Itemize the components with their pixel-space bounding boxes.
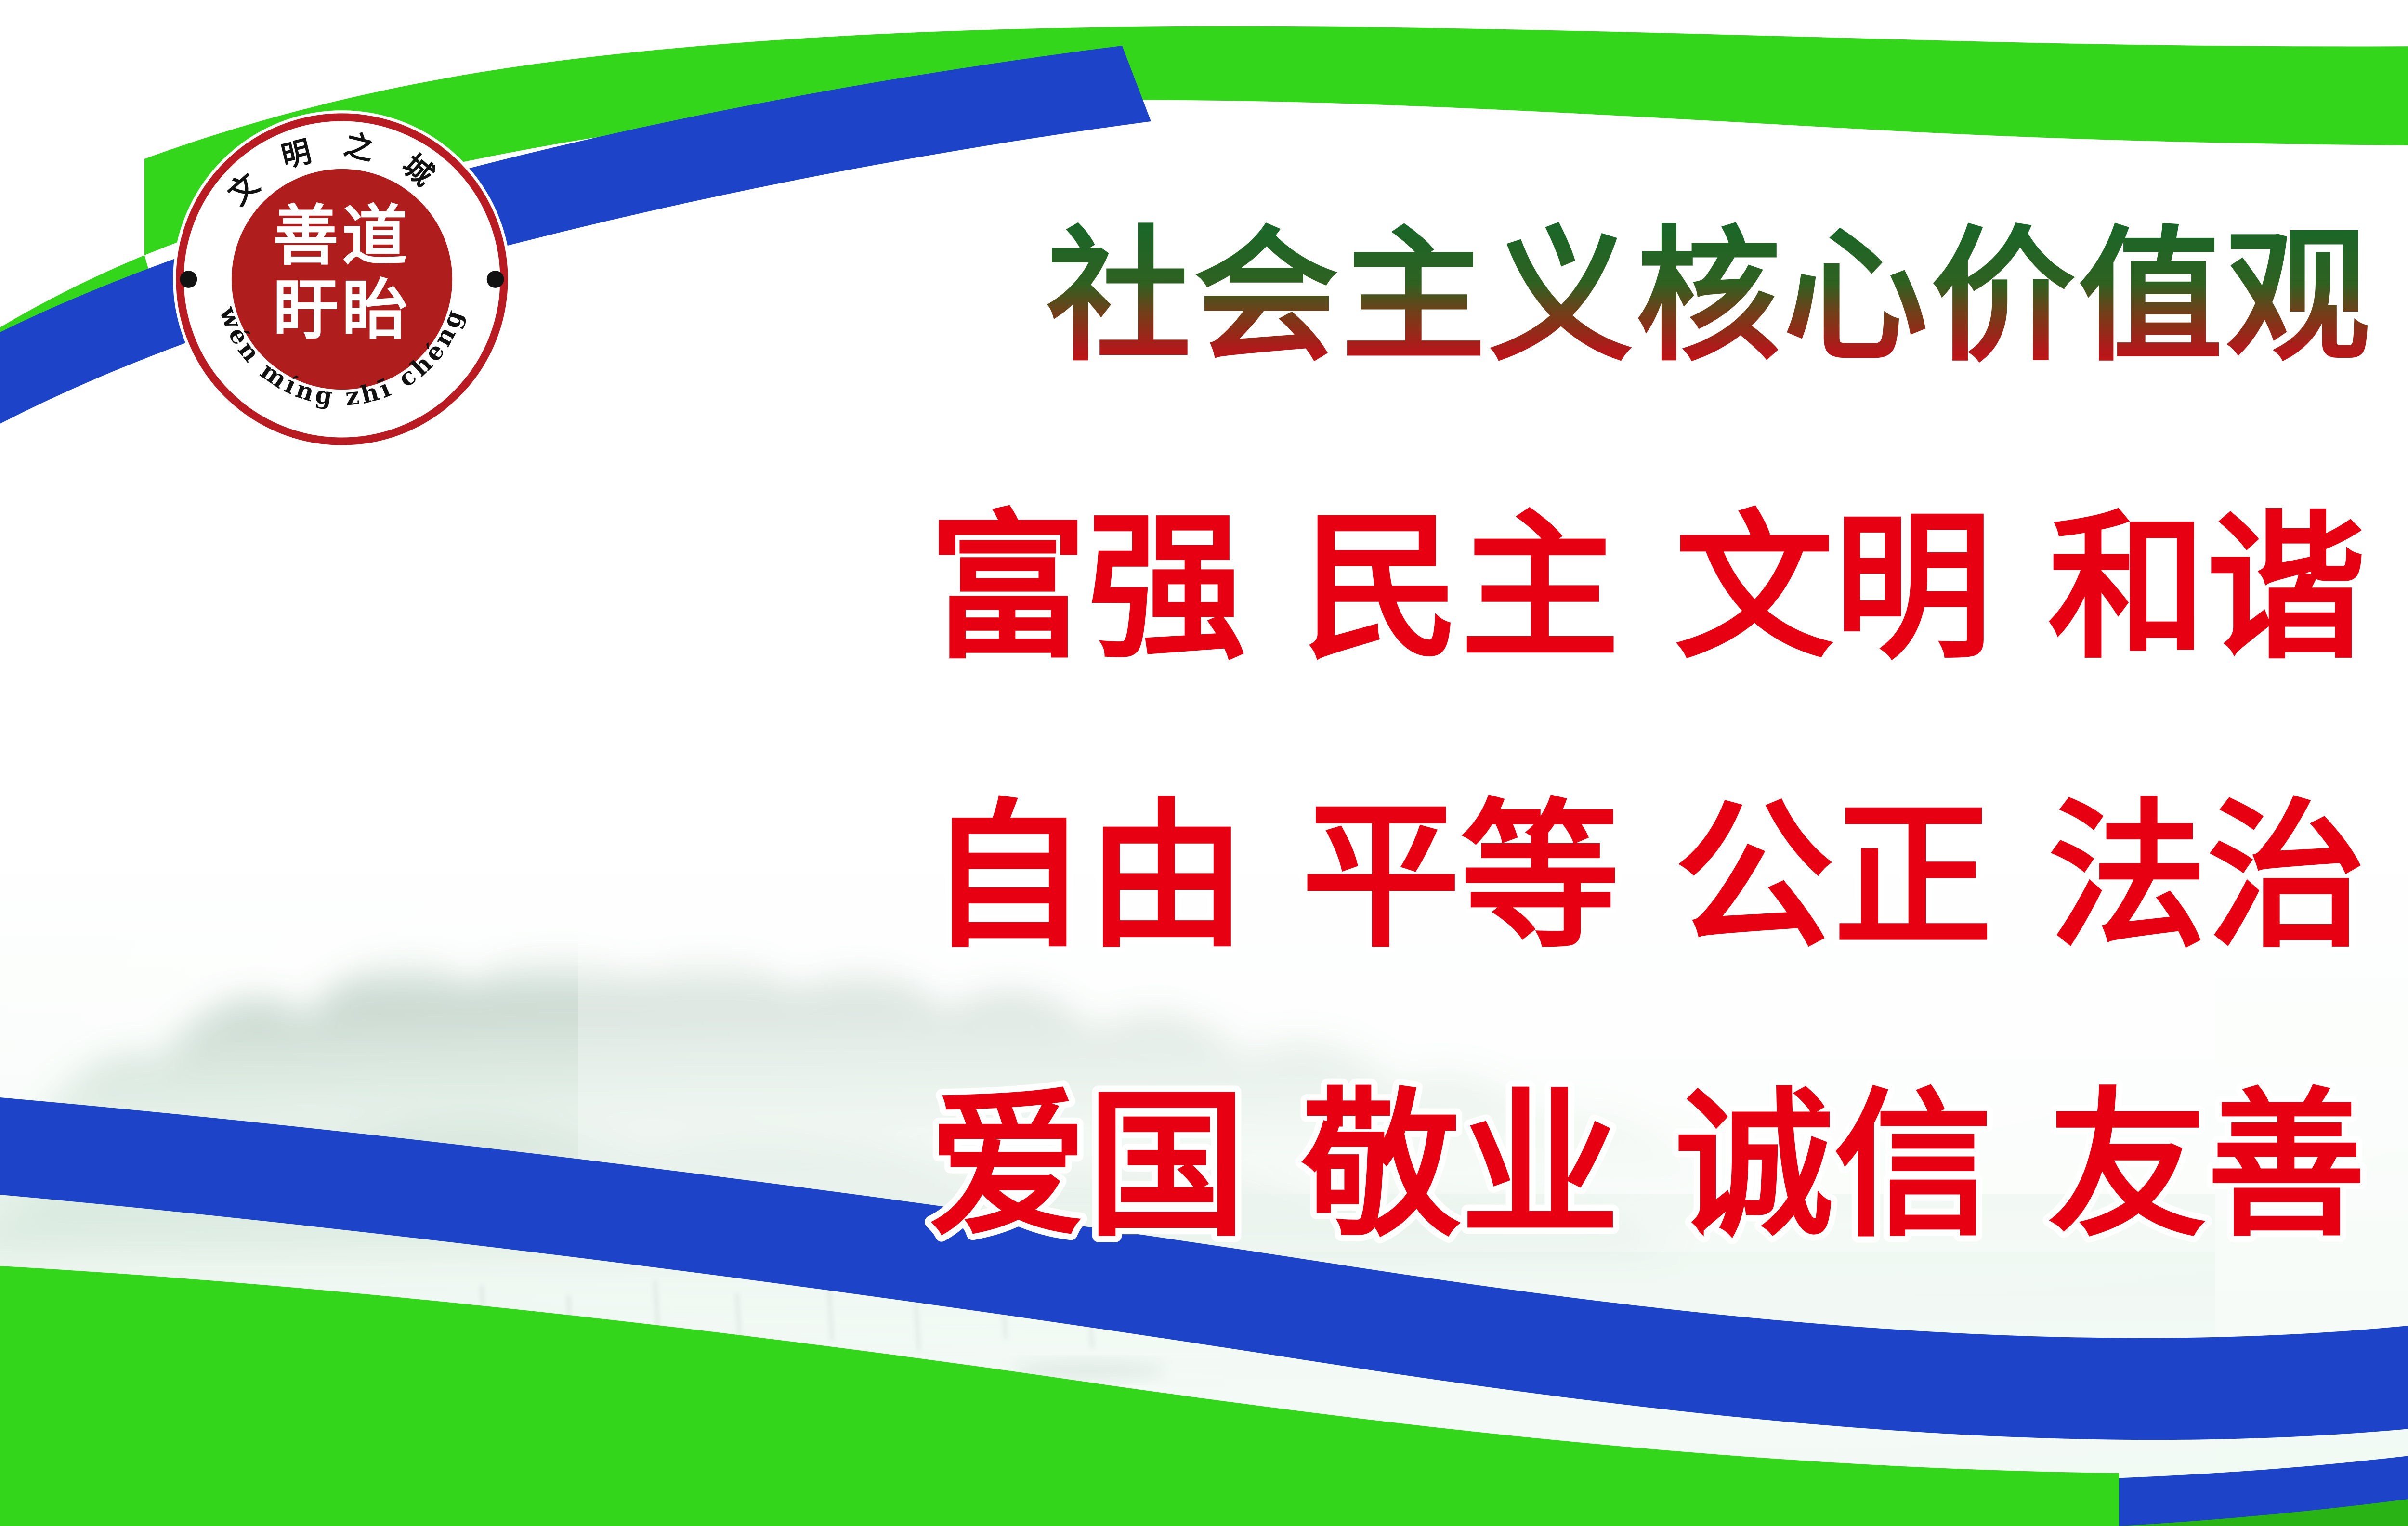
bottom-ribbons-svg <box>0 996 2408 1526</box>
ribbon-green-bottom-left <box>0 1266 2119 1526</box>
value-line-2: 自由 平等 公正 法治 <box>0 761 2408 1002</box>
page-title: 社会主义核心价值观 <box>819 207 2408 380</box>
emblem-inner-line-2: 盱眙 <box>273 273 411 349</box>
value-line-3-svg: 爱国 敬业 诚信 友善 <box>0 1050 2408 1291</box>
value-line-1: 富强 民主 文明 和谐 <box>0 472 2408 713</box>
misty-lake <box>0 1194 2215 1464</box>
value-line-3-text: 爱国 敬业 诚信 友善 <box>929 1073 2366 1258</box>
value-line-2-svg: 自由 平等 公正 法治 <box>0 761 2408 1002</box>
ribbon-green-tail <box>0 255 164 419</box>
emblem-dot-left <box>180 271 197 288</box>
title-svg: 社会主义核心价值观 <box>819 207 2408 380</box>
ribbon-green-bottom-right <box>2119 1219 2408 1526</box>
emblem-dot-right <box>487 271 504 288</box>
bottom-ribbons <box>0 996 2408 1526</box>
emblem-logo[interactable]: 文明之城 wén míng zhī chéng 善道 盱眙 <box>170 107 514 452</box>
treeline <box>0 948 1743 1252</box>
mountain-ridge <box>2398 366 2408 1526</box>
ribbon-blue-bottom-right <box>799 1189 2408 1526</box>
title-text: 社会主义核心价值观 <box>1047 213 2373 381</box>
value-line-2-text: 自由 平等 公正 法治 <box>929 784 2366 969</box>
ribbon-blue-bottom <box>0 996 2408 1440</box>
banner-board: 文明之城 wén míng zhī chéng 善道 盱眙 <box>0 0 2408 1526</box>
value-line-1-svg: 富强 民主 文明 和谐 <box>0 472 2408 713</box>
value-line-1-text: 富强 民主 文明 和谐 <box>929 496 2366 680</box>
emblem-inner-line-1: 善道 <box>273 198 411 274</box>
core-values-block: 富强 民主 文明 和谐 自由 平等 公正 法治 爱国 敬业 诚信 友善 <box>0 472 2408 1291</box>
banner-text-mirror: 社会主义核心价值观 富强 民主 文明 和谐 自由 平等 公正 法治 爱国 敬业 … <box>0 0 0 0</box>
emblem-svg: 文明之城 wén míng zhī chéng 善道 盱眙 <box>170 107 514 452</box>
value-line-3: 爱国 敬业 诚信 友善 <box>0 1050 2408 1291</box>
